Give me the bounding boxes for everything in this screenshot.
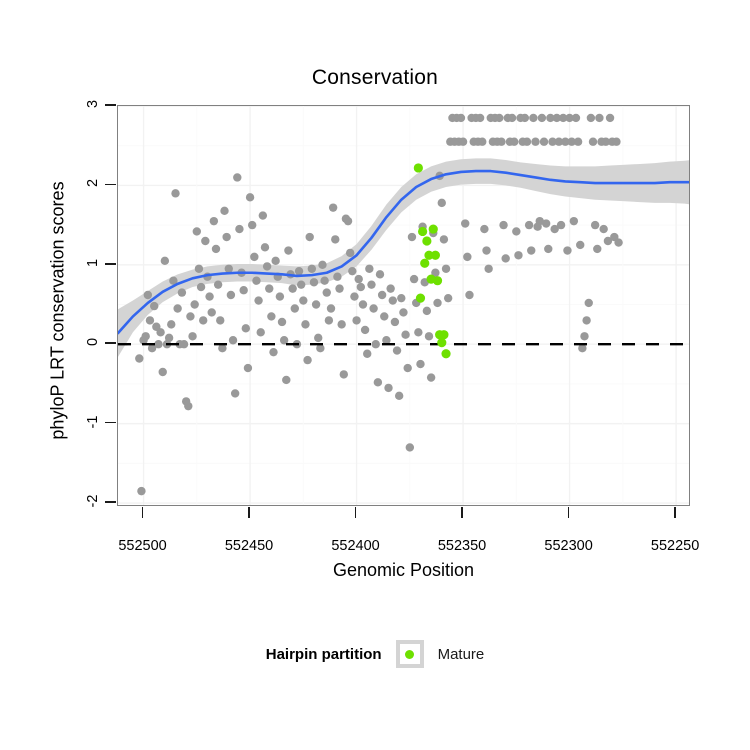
x-tick-label: 552300 xyxy=(529,538,609,554)
x-tick-mark xyxy=(248,507,250,518)
chart-title: Conservation xyxy=(0,66,750,90)
plot-panel xyxy=(117,105,690,506)
x-tick-label: 552500 xyxy=(103,538,183,554)
y-tick-label: 0 xyxy=(85,327,101,357)
legend-label-mature: Mature xyxy=(438,646,485,663)
x-tick-mark xyxy=(568,507,570,518)
y-tick-mark xyxy=(105,422,116,424)
x-tick-mark xyxy=(461,507,463,518)
x-tick-label: 552350 xyxy=(422,538,502,554)
x-tick-mark xyxy=(674,507,676,518)
legend-dot-icon xyxy=(405,650,414,659)
legend-key-mature[interactable] xyxy=(396,640,424,668)
x-tick-mark xyxy=(142,507,144,518)
x-tick-mark xyxy=(355,507,357,518)
plot-canvas xyxy=(118,106,690,506)
y-tick-label: 3 xyxy=(85,89,101,119)
conservation-chart-figure: Conservation phyloP LRT conservation sco… xyxy=(0,0,750,750)
x-tick-label: 552400 xyxy=(316,538,396,554)
loess-confidence-ribbon xyxy=(118,158,690,357)
y-tick-label: 2 xyxy=(85,168,101,198)
legend: Hairpin partition Mature xyxy=(0,640,750,668)
x-tick-label: 552250 xyxy=(635,538,715,554)
y-tick-mark xyxy=(105,184,116,186)
y-tick-mark xyxy=(105,342,116,344)
x-axis-title: Genomic Position xyxy=(117,560,690,581)
y-tick-label: 1 xyxy=(85,248,101,278)
x-tick-label: 552450 xyxy=(209,538,289,554)
y-tick-label: -2 xyxy=(85,486,101,516)
y-tick-mark xyxy=(105,501,116,503)
y-tick-mark xyxy=(105,104,116,106)
y-tick-label: -1 xyxy=(85,407,101,437)
y-tick-mark xyxy=(105,263,116,265)
y-axis-title: phyloP LRT conservation scores xyxy=(48,111,69,511)
legend-title: Hairpin partition xyxy=(266,646,382,663)
